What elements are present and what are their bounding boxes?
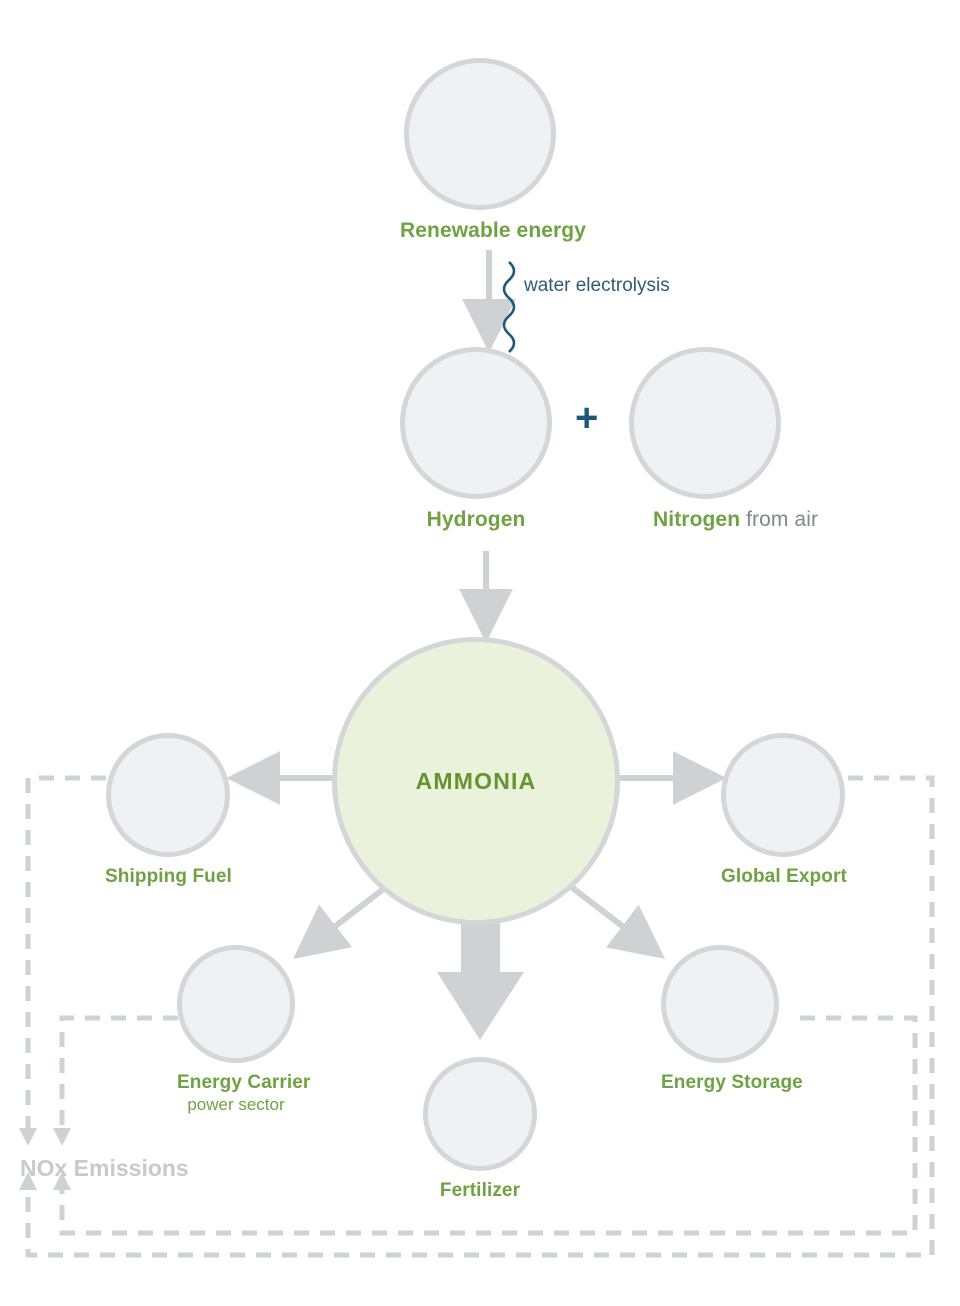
- nox-emissions-label: NOx Emissions: [20, 1155, 189, 1182]
- fertilizer-circle: [423, 1057, 537, 1171]
- node-ammonia[interactable]: AMMONIA: [332, 637, 620, 925]
- arrowhead-down-inner: [53, 1128, 71, 1146]
- shipping-fuel-label: Shipping Fuel: [105, 866, 229, 888]
- dashed-loop-energy-carrier: [62, 1018, 178, 1128]
- node-nitrogen[interactable]: Nitrogen from air: [629, 347, 781, 532]
- energy-carrier-circle: [177, 945, 295, 1063]
- energy-storage-label: Energy Storage: [661, 1072, 779, 1094]
- global-export-circle: [721, 733, 845, 857]
- squiggle-icon: [504, 262, 514, 352]
- renewable-energy-label: Renewable energy: [400, 219, 560, 243]
- diagram-canvas: Renewable energy Hydrogen + Nitrogen fro…: [0, 0, 960, 1306]
- nitrogen-label-sub: from air: [740, 508, 818, 531]
- node-shipping-fuel[interactable]: Shipping Fuel: [106, 733, 230, 888]
- hydrogen-label: Hydrogen: [400, 508, 552, 532]
- ammonia-label: AMMONIA: [337, 642, 615, 920]
- nitrogen-label-main: Nitrogen: [653, 508, 740, 531]
- energy-carrier-sublabel: power sector: [177, 1094, 295, 1115]
- fertilizer-label: Fertilizer: [423, 1180, 537, 1202]
- global-export-label: Global Export: [721, 866, 845, 888]
- shipping-fuel-circle: [106, 733, 230, 857]
- node-hydrogen[interactable]: Hydrogen: [400, 347, 552, 532]
- node-energy-carrier[interactable]: Energy Carrier power sector: [177, 945, 295, 1115]
- plus-sign: +: [575, 398, 598, 438]
- energy-storage-circle: [661, 945, 779, 1063]
- water-electrolysis-label: water electrolysis: [524, 275, 670, 297]
- node-energy-storage[interactable]: Energy Storage: [661, 945, 779, 1094]
- ammonia-circle: AMMONIA: [332, 637, 620, 925]
- renewable-energy-circle: [404, 58, 556, 210]
- arrowhead-down-outer: [19, 1128, 37, 1146]
- node-renewable-energy[interactable]: Renewable energy: [400, 58, 560, 243]
- node-fertilizer[interactable]: Fertilizer: [423, 1057, 537, 1202]
- nitrogen-circle: [629, 347, 781, 499]
- node-global-export[interactable]: Global Export: [721, 733, 845, 888]
- dashed-loop-shipping: [28, 778, 106, 1128]
- nitrogen-label: Nitrogen from air: [653, 508, 805, 532]
- hydrogen-circle: [400, 347, 552, 499]
- energy-carrier-label: Energy Carrier: [177, 1072, 295, 1094]
